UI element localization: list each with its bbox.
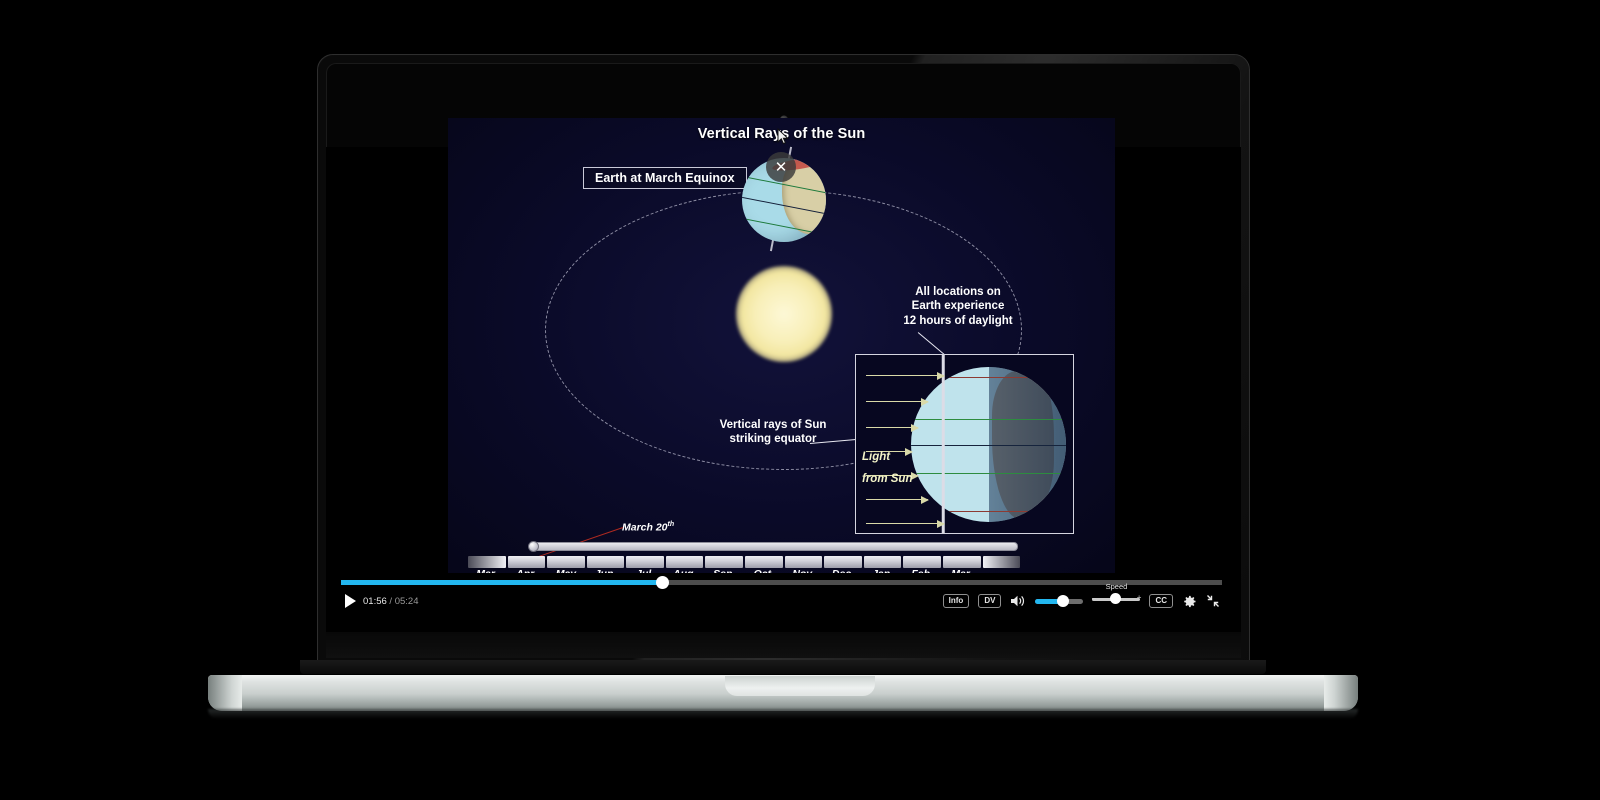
lid-chin — [326, 632, 1241, 658]
speed-slider-knob[interactable] — [1110, 593, 1121, 604]
dv-button[interactable]: DV — [978, 594, 1001, 608]
current-time: 01:56 — [363, 596, 387, 607]
cc-button[interactable]: CC — [1149, 594, 1173, 608]
speed-increase-icon[interactable]: + — [1137, 593, 1142, 602]
info-button[interactable]: Info — [943, 594, 970, 608]
timeline-month-label: Apr. — [508, 568, 546, 573]
vertical-rays-line-2: striking equator — [693, 432, 853, 446]
timeline-month-label: Sep. — [705, 568, 743, 573]
exit-fullscreen-icon[interactable] — [1206, 594, 1220, 608]
laptop-base-shadow — [208, 709, 1358, 719]
timeline-month-label: Nov. — [785, 568, 823, 573]
timeline-month-cell[interactable] — [943, 556, 981, 568]
volume-slider-knob[interactable] — [1057, 595, 1069, 607]
speed-slider[interactable]: Speed − + — [1092, 591, 1140, 611]
timeline-month-cell[interactable] — [547, 556, 585, 568]
timeline-knob[interactable] — [528, 541, 539, 552]
laptop-base-notch — [725, 676, 875, 696]
timeline-marker-date: March 20th — [622, 521, 674, 534]
inset-antarctic-line — [911, 511, 1066, 512]
timeline-month-cell[interactable] — [864, 556, 902, 568]
laptop-hinge — [300, 660, 1266, 674]
screenshot-stage: Vertical Rays of the Sun Earth at March … — [0, 0, 1600, 800]
light-label-line-1: Light — [862, 447, 938, 469]
timeline-month-cell[interactable] — [626, 556, 664, 568]
progress-bar-fill — [341, 580, 662, 585]
timeline-month-cell[interactable] — [468, 556, 506, 568]
video-canvas[interactable]: Vertical Rays of the Sun Earth at March … — [448, 118, 1115, 573]
timeline-month-label: Feb. — [903, 568, 941, 573]
daylight-callout-line-2: Earth experience — [878, 299, 1038, 313]
play-icon[interactable] — [345, 594, 356, 608]
sun-ray-arrow-7 — [866, 523, 944, 524]
timeline-month-cell[interactable] — [983, 556, 1021, 568]
timeline-month-label: Mar. — [943, 568, 981, 573]
vertical-rays-line-1: Vertical rays of Sun — [693, 418, 853, 432]
player-left-controls: 01:56 / 05:24 — [345, 594, 418, 608]
timeline-month-cell[interactable] — [587, 556, 625, 568]
close-button[interactable]: ✕ — [766, 152, 796, 182]
time-separator: / — [387, 596, 395, 607]
daylight-callout: All locations on Earth experience 12 hou… — [878, 285, 1038, 328]
inset-arctic-line — [911, 377, 1066, 378]
daylight-callout-line-3: 12 hours of daylight — [878, 314, 1038, 328]
earth-at-march-equinox-label: Earth at March Equinox — [583, 167, 747, 189]
video-player-controls[interactable]: 01:56 / 05:24 Info DV Speed − + — [341, 578, 1222, 616]
sun-ray-arrow-2 — [866, 401, 928, 402]
sun-ray-arrow-3 — [866, 427, 918, 428]
timeline-month-label: Mar. — [468, 568, 506, 573]
timeline-month-label: Jan. — [864, 568, 902, 573]
time-display: 01:56 / 05:24 — [363, 596, 418, 607]
light-label-line-2: from Sun — [862, 469, 938, 491]
timeline-marker-date-text: March 20 — [622, 522, 668, 534]
sun-ray-arrow-6 — [866, 499, 928, 500]
equinox-inset-panel: Light from Sun — [855, 354, 1074, 534]
timeline-month-cell[interactable] — [508, 556, 546, 568]
timeline-month-cell[interactable] — [785, 556, 823, 568]
timeline-marker-date-sup: th — [668, 521, 675, 528]
volume-icon[interactable] — [1010, 594, 1026, 608]
inset-equator-line — [911, 445, 1066, 446]
timeline-month-label-spacer — [983, 568, 1021, 573]
timeline-month-cell[interactable] — [824, 556, 862, 568]
timeline-month-cell[interactable] — [903, 556, 941, 568]
timeline-month-label: Jul. — [626, 568, 664, 573]
player-right-controls: Info DV Speed − + CC — [943, 591, 1220, 611]
inset-tropic-cancer-line — [911, 419, 1066, 420]
volume-slider[interactable] — [1035, 595, 1083, 607]
speed-decrease-icon[interactable]: − — [1091, 594, 1096, 603]
timeline-month-label: Jun. — [587, 568, 625, 573]
close-icon: ✕ — [775, 160, 788, 175]
inset-earth-globe — [911, 367, 1066, 522]
gear-icon[interactable] — [1182, 594, 1197, 609]
sun-graphic — [736, 266, 832, 362]
timeline-track[interactable] — [530, 542, 1018, 551]
progress-bar-track[interactable] — [341, 580, 1222, 585]
sun-ray-arrow-1 — [866, 375, 944, 376]
day-night-terminator-line — [942, 354, 945, 534]
speed-label: Speed — [1092, 582, 1140, 591]
timeline-month-label: Oct. — [745, 568, 783, 573]
daylight-callout-line-1: All locations on — [878, 285, 1038, 299]
light-from-sun-label: Light from Sun — [862, 447, 938, 491]
total-time: 05:24 — [395, 596, 419, 607]
timeline-month-label: Dec. — [824, 568, 862, 573]
timeline-month-label: Aug. — [666, 568, 704, 573]
timeline-month-cell[interactable] — [745, 556, 783, 568]
timeline-month-labels: Mar. Apr. May Jun. Jul. Aug. Sep. Oct. N… — [468, 568, 1020, 573]
timeline-month-label: May — [547, 568, 585, 573]
timeline-month-cell[interactable] — [705, 556, 743, 568]
timeline-month-cell[interactable] — [666, 556, 704, 568]
video-title: Vertical Rays of the Sun — [448, 126, 1115, 142]
progress-bar-knob[interactable] — [656, 576, 669, 589]
